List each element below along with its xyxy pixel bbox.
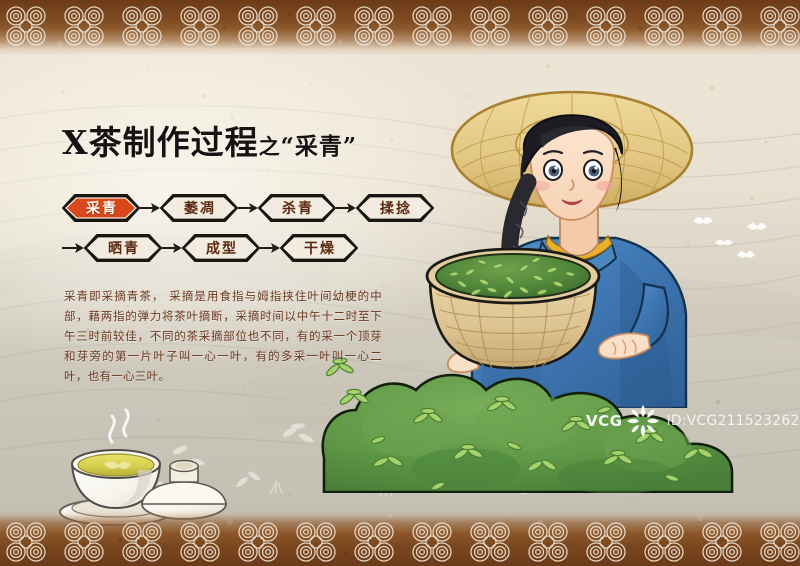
process-step-label: 成型 [182,234,260,262]
top-decorative-border [0,0,800,56]
title-quoted-text: “采青” [281,133,357,160]
flow-arrow-icon [62,240,84,256]
process-step-label: 萎凋 [160,194,238,222]
flow-arrow-icon [336,200,356,216]
quatrefoil-motif-row-bottom [0,518,800,564]
process-step-label: 晒青 [84,234,162,262]
process-step-shaqing[interactable]: 杀青 [258,194,336,222]
watermark-id: ID:VCG211523262759 [666,413,800,429]
quatrefoil-motif-row-top [0,4,800,50]
process-step-ganzao[interactable]: 干燥 [280,234,358,262]
watermark-logo: VCG [586,404,660,438]
process-flow-diagram: 采青 萎凋 [62,192,462,264]
process-flow-row-2: 晒青 成型 [62,232,462,264]
watermark-brand: VCG [586,412,622,430]
flow-arrow-icon [162,240,182,256]
watermark: VCG ID:VCG211523262759 [586,404,800,438]
process-flow-row-1: 采青 萎凋 [62,192,462,224]
poster-canvas: X茶制作过程之“采青” 采青 [0,0,800,566]
process-step-label: 干燥 [280,234,358,262]
title-connector-text: 之 [259,134,281,159]
flow-arrow-icon [238,200,258,216]
process-step-weidiao[interactable]: 萎凋 [160,194,238,222]
process-step-chengxing[interactable]: 成型 [182,234,260,262]
title-main-text: X茶制作过程 [62,123,259,162]
process-step-label: 揉捻 [356,194,434,222]
page-title: X茶制作过程之“采青” [62,126,357,159]
flow-arrow-icon [140,200,160,216]
vcg-burst-icon [626,404,660,438]
process-step-caiqing[interactable]: 采青 [62,194,140,222]
body-paragraph: 采青即采摘青茶， 采摘是用食指与姆指挟住叶间幼梗的中部，藉两指的弹力将茶叶摘断，… [64,286,382,386]
process-step-label: 杀青 [258,194,336,222]
process-step-rounian[interactable]: 揉捻 [356,194,434,222]
bottom-decorative-border [0,510,800,566]
process-step-shaiqing[interactable]: 晒青 [84,234,162,262]
process-step-label: 采青 [62,194,140,222]
flow-arrow-icon [260,240,280,256]
